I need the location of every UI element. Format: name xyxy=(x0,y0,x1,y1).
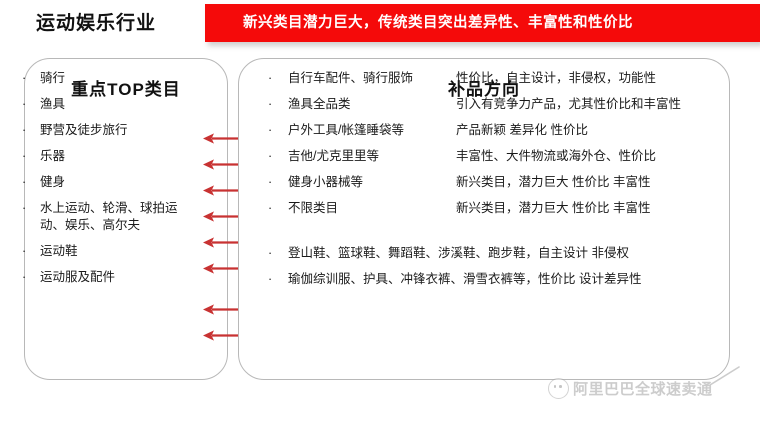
list-item[interactable]: · 运动鞋 xyxy=(22,243,192,260)
table-row[interactable]: · 户外工具/帐篷睡袋等 产品新颖 差异化 性价比 xyxy=(268,122,718,139)
row-description: 性价比，自主设计，非侵权，功能性 xyxy=(456,70,718,87)
list-item-label: 水上运动、轮滑、球拍运动、娱乐、高尔夫 xyxy=(40,200,192,234)
table-row[interactable]: · 登山鞋、篮球鞋、舞蹈鞋、涉溪鞋、跑步鞋，自主设计 非侵权 xyxy=(268,245,718,262)
watermark-stroke-icon xyxy=(708,366,742,386)
list-item-label: 野营及徒步旅行 xyxy=(40,122,192,139)
list-item-label: 渔具 xyxy=(40,96,192,113)
row-spacer xyxy=(268,226,718,245)
table-row[interactable]: · 不限类目 新兴类目，潜力巨大 性价比 丰富性 xyxy=(268,200,718,217)
wechat-circle-icon xyxy=(548,378,569,399)
list-item[interactable]: · 骑行 xyxy=(22,70,192,87)
bullet-icon: · xyxy=(268,70,288,87)
bullet-icon: · xyxy=(22,174,40,191)
slide-header: 运动娱乐行业 新兴类目潜力巨大，传统类目突出差异性、丰富性和性价比 xyxy=(0,0,760,46)
list-item-label: 运动鞋 xyxy=(40,243,192,260)
table-row[interactable]: · 吉他/尤克里里等 丰富性、大件物流或海外仓、性价比 xyxy=(268,148,718,165)
bullet-icon: · xyxy=(268,148,288,165)
page-title: 运动娱乐行业 xyxy=(36,8,156,35)
headline-banner: 新兴类目潜力巨大，传统类目突出差异性、丰富性和性价比 xyxy=(205,4,760,42)
bullet-icon: · xyxy=(22,122,40,139)
bullet-icon: · xyxy=(22,200,40,217)
list-item[interactable]: · 水上运动、轮滑、球拍运动、娱乐、高尔夫 xyxy=(22,200,192,234)
row-description: 产品新颖 差异化 性价比 xyxy=(456,122,718,139)
list-item-label: 健身 xyxy=(40,174,192,191)
list-item[interactable]: · 渔具 xyxy=(22,96,192,113)
watermark-text: 阿里巴巴全球速卖通 xyxy=(573,378,713,399)
top-categories-list: · 骑行 · 渔具 · 野营及徒步旅行 · 乐器 · 健身 · 水上运动、轮滑、… xyxy=(22,70,192,295)
list-item-label: 运动服及配件 xyxy=(40,269,192,286)
bullet-icon: · xyxy=(22,243,40,260)
list-item[interactable]: · 野营及徒步旅行 xyxy=(22,122,192,139)
table-row[interactable]: · 瑜伽综训服、护具、冲锋衣裤、滑雪衣裤等，性价比 设计差异性 xyxy=(268,271,718,288)
row-label: 渔具全品类 xyxy=(288,96,456,113)
list-item[interactable]: · 乐器 xyxy=(22,148,192,165)
list-item-label: 乐器 xyxy=(40,148,192,165)
row-label: 自行车配件、骑行服饰 xyxy=(288,70,456,87)
headline-banner-text: 新兴类目潜力巨大，传统类目突出差异性、丰富性和性价比 xyxy=(243,4,633,42)
row-description: 引入有竞争力产品，尤其性价比和丰富性 xyxy=(456,96,718,113)
row-label: 户外工具/帐篷睡袋等 xyxy=(288,122,456,139)
supplement-directions-table: · 自行车配件、骑行服饰 性价比，自主设计，非侵权，功能性 · 渔具全品类 引入… xyxy=(268,70,718,297)
table-row[interactable]: · 渔具全品类 引入有竞争力产品，尤其性价比和丰富性 xyxy=(268,96,718,113)
bullet-icon: · xyxy=(22,148,40,165)
row-label: 健身小器械等 xyxy=(288,174,456,191)
bullet-icon: · xyxy=(22,96,40,113)
table-row[interactable]: · 健身小器械等 新兴类目，潜力巨大 性价比 丰富性 xyxy=(268,174,718,191)
row-description: 新兴类目，潜力巨大 性价比 丰富性 xyxy=(456,200,718,217)
bullet-icon: · xyxy=(268,174,288,191)
bullet-icon: · xyxy=(268,122,288,139)
bullet-icon: · xyxy=(268,200,288,217)
row-label: 登山鞋、篮球鞋、舞蹈鞋、涉溪鞋、跑步鞋，自主设计 非侵权 xyxy=(288,245,639,262)
row-label: 不限类目 xyxy=(288,200,456,217)
list-item[interactable]: · 运动服及配件 xyxy=(22,269,192,286)
row-description: 丰富性、大件物流或海外仓、性价比 xyxy=(456,148,718,165)
list-item[interactable]: · 健身 xyxy=(22,174,192,191)
list-item-label: 骑行 xyxy=(40,70,192,87)
row-description: 新兴类目，潜力巨大 性价比 丰富性 xyxy=(456,174,718,191)
watermark: 阿里巴巴全球速卖通 xyxy=(548,378,713,399)
bullet-icon: · xyxy=(268,271,288,288)
bullet-icon: · xyxy=(268,245,288,262)
bullet-icon: · xyxy=(22,269,40,286)
bullet-icon: · xyxy=(268,96,288,113)
bullet-icon: · xyxy=(22,70,40,87)
table-row[interactable]: · 自行车配件、骑行服饰 性价比，自主设计，非侵权，功能性 xyxy=(268,70,718,87)
row-label: 瑜伽综训服、护具、冲锋衣裤、滑雪衣裤等，性价比 设计差异性 xyxy=(288,271,651,288)
row-label: 吉他/尤克里里等 xyxy=(288,148,456,165)
